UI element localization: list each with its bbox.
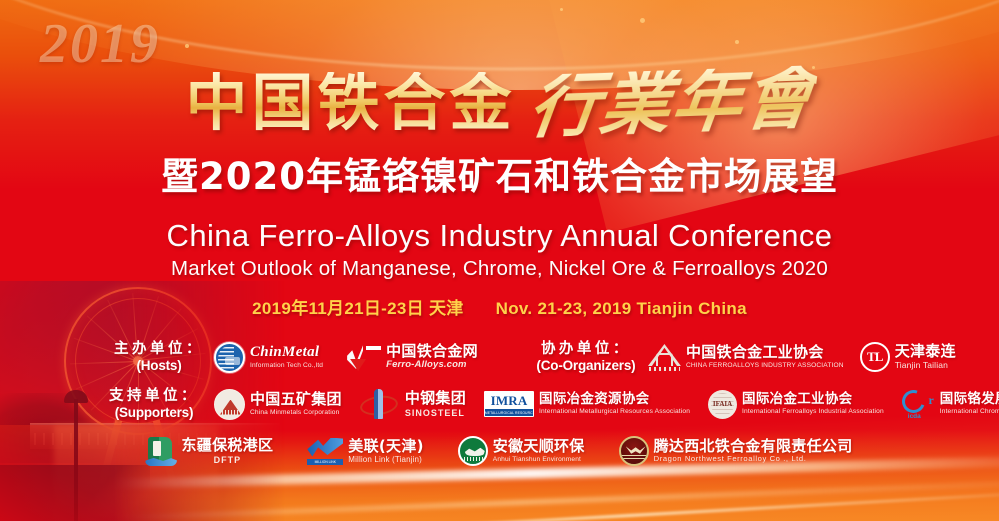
logo-million-link-name: 美联(天津) [348,438,424,455]
chinmetal-globe-icon [214,342,245,373]
logo-imra-name: 国际冶金资源协会 [539,392,690,407]
sponsor-section: 主办单位： (Hosts) ChinMetal Information Tech… [0,335,999,473]
bottom-light-streak-secondary [0,478,999,521]
logo-anhui-tianshun-name: 安徽天顺环保 [493,438,585,455]
logo-ferro-alloys-url: Ferro-Alloys.com [386,360,478,371]
coorganizers-label-cn: 协办单位： [530,341,642,357]
logo-cfia-name: 中国铁合金工业协会 [686,344,844,361]
logo-chinmetal: ChinMetal Information Tech Co.,ltd [214,342,323,373]
logo-dragon-northwest-name: 腾达西北铁合金有限责任公司 [654,438,853,455]
logo-chinmetal-sub: Information Tech Co.,ltd [250,362,323,370]
hosts-and-coorganizers-row: 主办单位： (Hosts) ChinMetal Information Tech… [14,335,985,379]
main-title-row: 中国铁合金 行業年會 [0,60,999,134]
supporters-label-cn: 支持单位： [100,388,208,404]
logo-million-link-sub: Million Link (Tianjin) [348,455,424,464]
logo-cfia-sub: CHINA FERROALLOYS INDUSTRY ASSOCIATION [686,362,844,370]
logo-icda: ricda 国际铬发展协会 International Chrome Devel… [902,389,999,419]
logo-icda-name: 国际铬发展协会 [940,392,999,407]
logo-sinosteel-sub: SINOSTEEL [405,408,466,418]
logo-ifaia-sub: International Ferroalloys Industrial Ass… [742,408,884,416]
logo-minmetals: 中国五矿集团 China Minmetals Corporation [214,389,342,420]
bottom-diagonal-streak [181,489,999,521]
cfia-roof-icon [648,343,681,371]
photo-quay [0,465,150,521]
logo-chinmetal-name: ChinMetal [250,344,323,361]
conference-banner: 2019 中国铁合金 行業年會 暨2020年锰铬镍矿石和铁合金市场展望 Chin… [0,0,999,521]
logo-dragon-northwest-sub: Dragon Northwest Ferroalloy Co ., Ltd. [654,455,853,464]
logo-dftp: 东疆保税港区 DFTP [146,436,273,466]
logo-dragon-northwest: 腾达西北铁合金有限责任公司 Dragon Northwest Ferroallo… [619,436,853,466]
icda-icon: ricda [902,389,935,419]
sinosteel-icon [360,389,400,419]
logo-tianjin-tailian-name: 天津泰连 [895,343,956,360]
logo-anhui-tianshun-sub: Anhui Tianshun Environment [493,456,585,464]
date-location-line: 2019年11月21日-23日 天津 Nov. 21-23, 2019 Tian… [0,294,999,319]
logo-icda-sub: International Chrome Development Associa… [940,408,999,416]
logo-cfia: 中国铁合金工业协会 CHINA FERROALLOYS INDUSTRY ASS… [648,343,844,371]
tianjin-tailian-icon: TL [860,342,890,372]
logo-anhui-tianshun: 安徽天顺环保 Anhui Tianshun Environment [458,436,585,466]
logo-imra-sub: International Metallurgical Resources As… [539,408,690,416]
logo-tianjin-tailian: TL 天津泰连 Tianjin Tailian [860,342,956,372]
logo-minmetals-sub: China Minmetals Corporation [250,409,342,417]
partners-row: 东疆保税港区 DFTP MILLION LINK 美联(天津) Million … [14,429,985,473]
subtitle-chinese: 暨2020年锰铬镍矿石和铁合金市场展望 [0,146,999,200]
main-title-brush-calligraphy: 行業年會 [525,65,818,139]
logo-ifaia-name: 国际冶金工业协会 [742,392,884,407]
supporters-row: 支持单位： (Supporters) 中国五矿集团 China Minmetal… [14,381,985,427]
logo-ferro-alloys-name: 中国铁合金网 [386,343,478,360]
supporters-label-en: (Supporters) [100,405,208,420]
title-english-sub: Market Outlook of Manganese, Chrome, Nic… [0,257,999,281]
headline-block: 中国铁合金 行業年會 暨2020年锰铬镍矿石和铁合金市场展望 China Fer… [0,0,999,319]
supporters-label: 支持单位： (Supporters) [100,388,208,419]
ifaia-icon: IFAIA [708,390,737,419]
dragon-northwest-icon [619,436,649,466]
hosts-label-en: (Hosts) [110,358,208,373]
logo-ferro-alloys: 中国铁合金网 Ferro-Alloys.com [347,343,478,371]
date-chinese: 2019年11月21日-23日 天津 [252,299,463,318]
logo-ifaia: IFAIA 国际冶金工业协会 International Ferroalloys… [708,390,884,419]
hosts-label-cn: 主办单位： [110,341,208,357]
anhui-tianshun-icon [458,436,488,466]
title-english-main: China Ferro-Alloys Industry Annual Confe… [0,218,999,254]
coorganizers-label: 协办单位： (Co-Organizers) [530,341,642,372]
logo-minmetals-name: 中国五矿集团 [250,391,342,408]
date-english: Nov. 21-23, 2019 Tianjin China [496,299,747,318]
hosts-label: 主办单位： (Hosts) [110,341,208,372]
logo-sinosteel: 中钢集团 SINOSTEEL [360,389,466,419]
logo-imra: IMRAINTERNATIONAL METALLURGICAL RESOURCE… [484,391,690,417]
logo-million-link: MILLION LINK 美联(天津) Million Link (Tianji… [307,438,424,465]
imra-icon: IMRAINTERNATIONAL METALLURGICAL RESOURCE… [484,391,534,417]
logo-dftp-name: 东疆保税港区 [181,437,273,454]
main-title-chinese: 中国铁合金 [185,72,515,134]
logo-tianjin-tailian-sub: Tianjin Tailian [895,361,956,371]
coorganizers-label-en: (Co-Organizers) [530,358,642,373]
logo-sinosteel-name: 中钢集团 [405,390,466,407]
logo-dftp-sub: DFTP [181,455,273,465]
ferro-alloys-icon [347,343,381,371]
dftp-icon [146,436,176,466]
million-link-icon: MILLION LINK [307,438,343,465]
minmetals-icon [214,389,245,420]
